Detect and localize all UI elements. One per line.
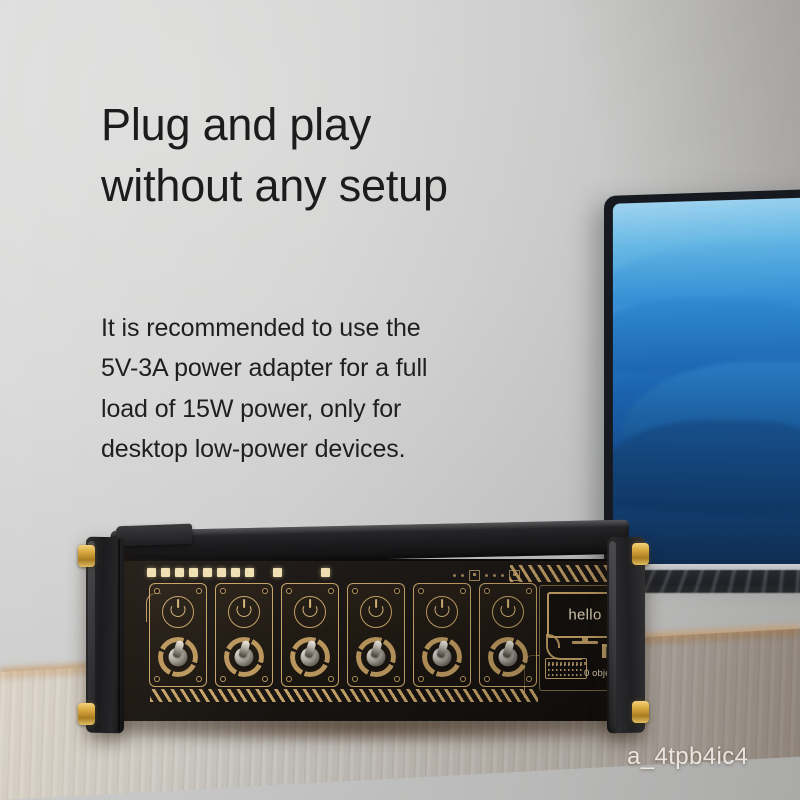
headline-line-1: Plug and play	[101, 94, 531, 155]
laptop-screen	[613, 197, 800, 570]
watermark: a_4tpb4ic4	[627, 743, 748, 771]
body-line-1: It is recommended to use the	[101, 308, 491, 348]
end-cap-highlight	[609, 541, 616, 729]
end-cap-seam	[118, 539, 120, 731]
end-cap-highlight	[88, 541, 95, 729]
body-copy: It is recommended to use the 5V-3A power…	[101, 308, 491, 469]
laptop-lid	[604, 188, 800, 575]
brass-post-bottom-right	[632, 701, 649, 723]
page-title: Plug and play without any setup	[101, 94, 531, 216]
wallpaper-wave-4	[613, 419, 800, 517]
device-lid-tab	[116, 524, 192, 547]
brass-post-top-right	[632, 543, 649, 565]
body-line-2: 5V-3A power adapter for a full	[101, 348, 491, 388]
product-photo-scene: Plug and play without any setup It is re…	[0, 0, 800, 800]
face-sheen	[110, 559, 628, 721]
brass-post-bottom-left	[78, 703, 95, 725]
device-front-face: hello 0 objects	[110, 559, 628, 721]
power-switch-device: hello 0 objects	[86, 531, 646, 736]
brass-post-top-left	[78, 545, 95, 567]
body-line-3: load of 15W power, only for	[101, 389, 491, 429]
body-line-4: desktop low-power devices.	[101, 429, 491, 469]
headline-line-2: without any setup	[101, 155, 531, 216]
